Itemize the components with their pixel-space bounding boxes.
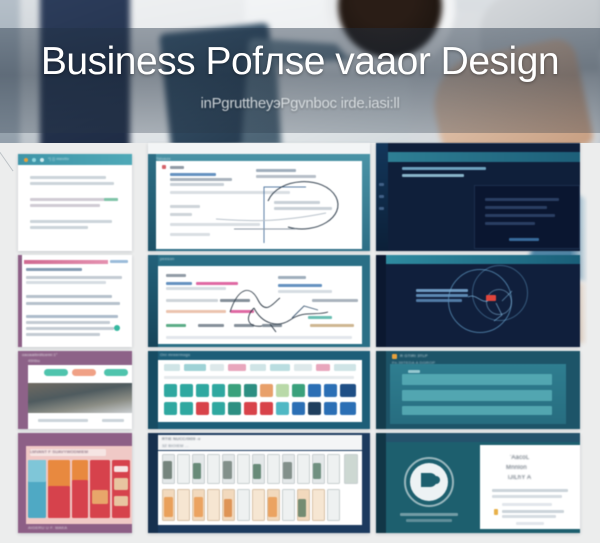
window-title-label: Oni mreermogs xyxy=(160,352,190,357)
form-field-3[interactable] xyxy=(402,406,552,415)
window-side-rail xyxy=(148,154,156,251)
slide-header-label: oaoaaibrdtcemi:1° xyxy=(22,352,58,357)
purple-frame-edge xyxy=(18,255,22,347)
form-field-1[interactable] xyxy=(402,374,552,385)
certificate-heading-2: Mnnlon xyxy=(506,465,527,471)
slide-header-label: *] [] mevtiv xyxy=(48,156,69,161)
slide-accent-bar xyxy=(386,433,580,442)
certificate-text-panel: 'AacoL Mnnlon lJlLhY A xyxy=(480,445,580,529)
page-title: Business Pofлsе vaаor Design xyxy=(0,40,600,84)
slide-grid: *] [] mevtiv Tstuszx xyxy=(0,143,600,543)
window-side-rail xyxy=(148,351,158,429)
page-subtitle: inPgruttheyэPgvnboc irde.iasi:ll xyxy=(0,95,600,112)
slide-thumb-teal-form[interactable]: R GTIRI 3TLP Fn.39TEDA A DGROP xyxy=(376,351,580,429)
dark-side-rail xyxy=(376,351,386,429)
slide-thumb-landscape-photo[interactable]: oaoaaibrdtcemi:1° 49itbu xyxy=(18,351,132,429)
header-banner: Business Pofлsе vaаor Design inPgrutthey… xyxy=(0,0,600,143)
landscape-photo xyxy=(28,383,132,413)
slide-thumb-icon-grid[interactable]: Oni mreermogs xyxy=(148,351,370,429)
pill-button-primary[interactable] xyxy=(44,369,68,376)
thumbnail-grid-page xyxy=(158,451,362,525)
slide-thumb-network-circle[interactable] xyxy=(376,255,580,347)
tab-label[interactable]: RTIE NUCC/0I09 -v xyxy=(162,436,200,441)
flow-curve-graphic xyxy=(156,161,362,249)
pink-accent-bar xyxy=(24,260,108,264)
window-side-rail xyxy=(148,433,158,533)
network-link-graphic xyxy=(376,255,580,347)
form-field-2[interactable] xyxy=(402,390,552,401)
slide-thumb-document-diagram[interactable]: Tstuszx xyxy=(148,143,370,251)
window-title-label: peeson xyxy=(160,256,174,261)
certificate-heading-1: 'AacoL xyxy=(510,455,529,461)
emblem-glyph-icon xyxy=(410,463,448,501)
slide-thumb-pink-accent[interactable] xyxy=(18,255,132,347)
badge-emblem-icon xyxy=(410,463,448,501)
dark-content-block xyxy=(474,185,580,249)
slide-thumb-infographic[interactable]: LMVANT F SUAVYWODMIEM AIGERU U F. MAKA xyxy=(18,433,132,533)
tab-strip: RTIE NUCC/0I09 -v 3Z BIOIEM ... xyxy=(158,435,362,450)
infographic-body xyxy=(26,446,132,524)
slide-header-bar: *] [] mevtiv xyxy=(18,154,132,165)
slide-thumb-text-teal[interactable]: *] [] mevtiv xyxy=(18,154,132,251)
dark-side-rail xyxy=(376,433,386,533)
slide-thumb-flow-document[interactable]: peeson xyxy=(148,255,370,347)
infographic-caption: AIGERU U F. MAKA xyxy=(28,525,67,530)
tab-sub-label: 3Z BIOIEM ... xyxy=(162,443,189,448)
slide-accent-bar xyxy=(388,152,580,162)
slide-thumb-dark-navy[interactable] xyxy=(376,143,580,251)
icon-grid-page xyxy=(158,360,362,422)
flow-curve-graphic xyxy=(158,266,362,344)
certificate-heading-3: lJlLhY A xyxy=(508,475,531,481)
form-heading-label: R GTIRI 3TLP xyxy=(400,353,428,358)
pill-button-tertiary[interactable] xyxy=(104,369,128,376)
slide-grid-sheet: *] [] mevtiv Tstuszx xyxy=(0,143,600,543)
slide-sub-label: 49itbu xyxy=(28,358,40,363)
document-page xyxy=(156,161,362,249)
window-side-rail xyxy=(148,255,158,347)
slide-thumb-thumbnail-grid[interactable]: RTIE NUCC/0I09 -v 3Z BIOIEM ... xyxy=(148,433,370,533)
pill-button-secondary[interactable] xyxy=(72,369,96,376)
infographic-title-label: LMVANT F SUAVYWODMIEM xyxy=(30,449,88,454)
document-page xyxy=(158,266,362,344)
slide-thumb-certificate[interactable]: 'AacoL Mnnlon lJlLhY A xyxy=(376,433,580,533)
